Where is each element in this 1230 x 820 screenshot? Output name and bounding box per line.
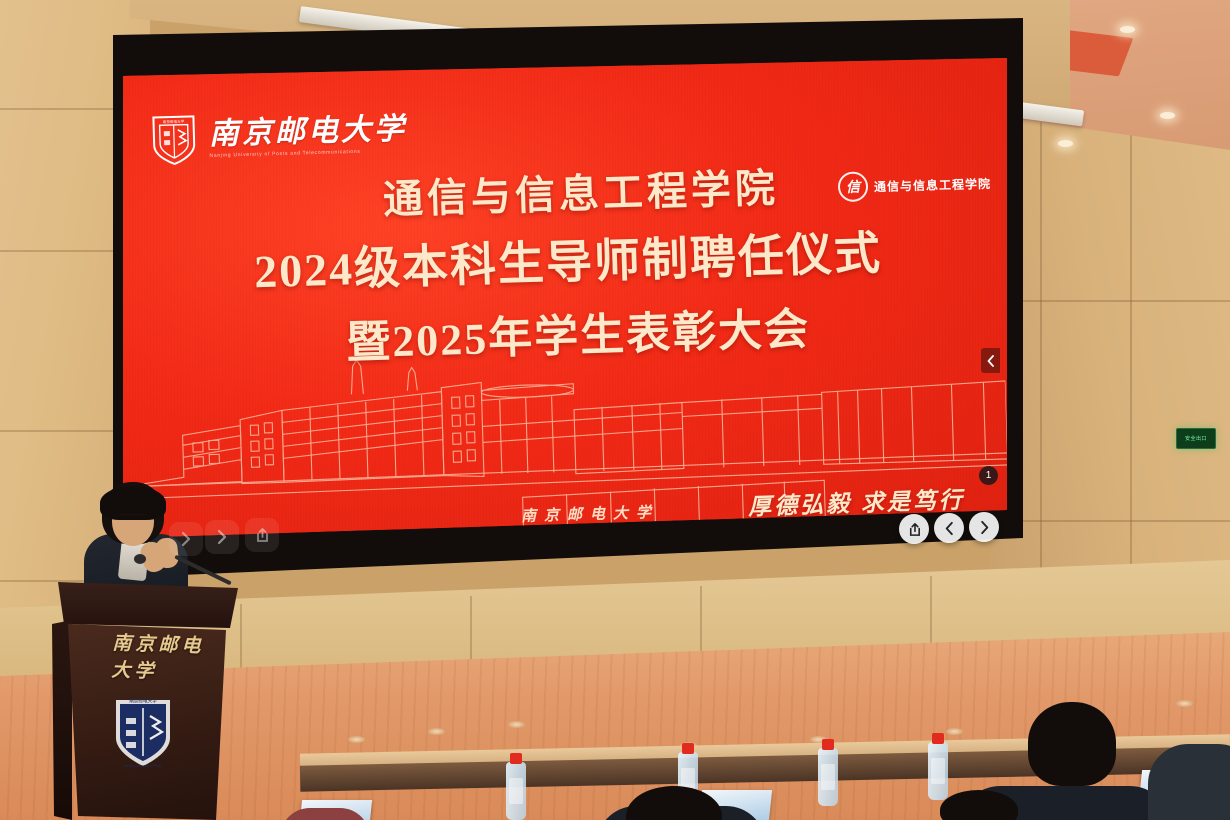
led-screen: 南京邮电大学 南京邮电大学 Nanjing University of Post… xyxy=(123,58,1007,538)
svg-text:南京邮电大学: 南京邮电大学 xyxy=(163,119,185,125)
chevron-left-icon xyxy=(986,355,996,367)
share-button[interactable] xyxy=(899,514,929,544)
njupt-shield-icon: 南京邮电大学 Nanjing University of Posts xyxy=(112,694,174,770)
ceiling-light xyxy=(1160,112,1175,119)
chevron-right-icon xyxy=(178,531,194,547)
water-bottle xyxy=(818,748,838,806)
chevron-right-icon xyxy=(977,520,992,535)
water-bottle xyxy=(928,742,948,800)
podium-top xyxy=(52,580,242,628)
floor-outlet xyxy=(428,728,445,735)
chevron-left-icon xyxy=(942,521,957,536)
page-indicator-badge: 1 xyxy=(979,466,998,485)
water-bottle xyxy=(506,762,526,820)
audience-head xyxy=(1028,702,1116,786)
podium: 南京邮电大学 南京邮电大学 Nanjing University of Post… xyxy=(52,580,242,820)
speaker-glasses xyxy=(117,514,149,523)
ghost-play-button[interactable] xyxy=(169,522,203,556)
collapse-panel-button[interactable] xyxy=(981,348,1000,373)
prev-slide-button[interactable] xyxy=(934,513,964,543)
ceiling-light xyxy=(1120,26,1135,33)
microphone-head xyxy=(134,554,146,564)
next-slide-button[interactable] xyxy=(969,512,999,542)
photo-scene: 南京邮电大学 南京邮电大学 Nanjing University of Post… xyxy=(0,0,1230,820)
podium-side xyxy=(52,620,72,820)
podium-university-name: 南京邮电大学 xyxy=(111,628,227,686)
share-icon xyxy=(907,522,922,537)
svg-text:Nanjing University of Posts: Nanjing University of Posts xyxy=(124,764,162,768)
ghost-share-button[interactable] xyxy=(245,518,279,552)
exit-sign-text: 安全出口 xyxy=(1185,435,1207,442)
audience-shoulders xyxy=(1148,744,1230,820)
floor-outlet xyxy=(348,736,365,743)
chevron-right-icon xyxy=(214,529,230,545)
floor-outlet xyxy=(508,721,525,728)
ghost-play-button-2[interactable] xyxy=(205,520,239,554)
university-name-cn: 南京邮电大学 xyxy=(208,114,407,150)
podium-front: 南京邮电大学 南京邮电大学 Nanjing University of Post… xyxy=(68,624,226,820)
university-logo: 南京邮电大学 南京邮电大学 Nanjing University of Post… xyxy=(150,106,407,167)
university-crest-icon: 南京邮电大学 xyxy=(150,112,197,167)
emergency-exit-sign: 安全出口 xyxy=(1176,428,1216,449)
svg-text:南京邮电大学: 南京邮电大学 xyxy=(129,698,157,705)
share-icon xyxy=(254,527,270,543)
ceiling-light xyxy=(1058,140,1073,147)
floor-outlet xyxy=(1176,700,1193,707)
floor-outlet xyxy=(946,728,963,735)
event-title-block: 通信与信息工程学院 2024级本科生导师制聘任仪式 暨2025年学生表彰大会 xyxy=(123,149,1007,377)
